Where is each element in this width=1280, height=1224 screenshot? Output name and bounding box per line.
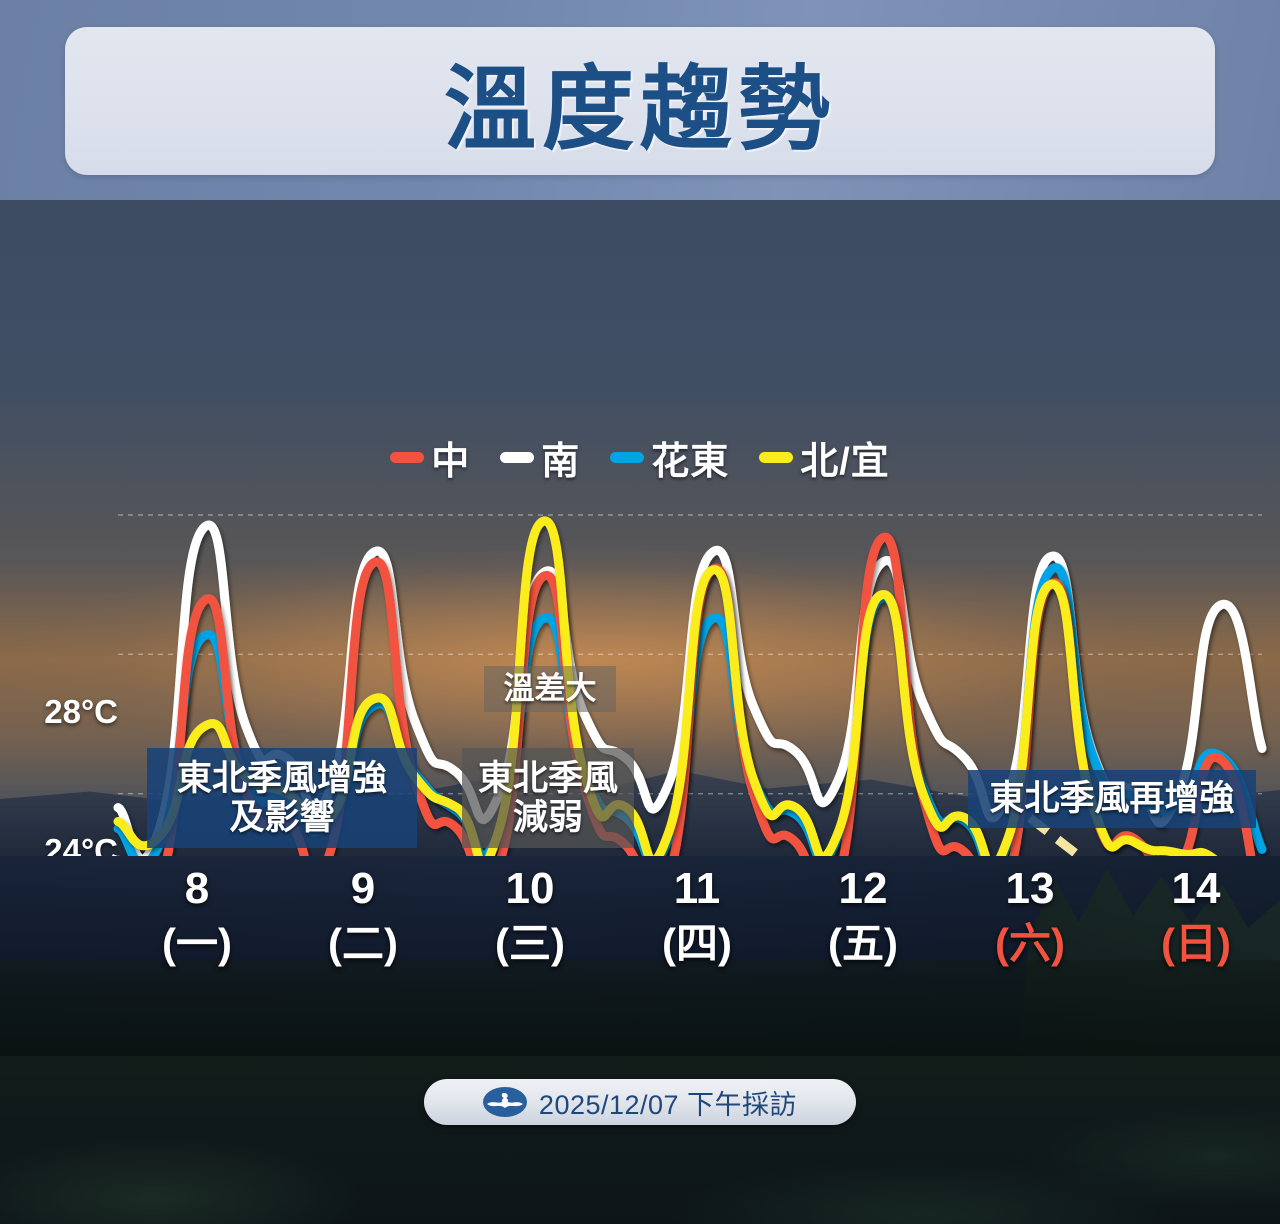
date-column-11: 11(四) (637, 866, 757, 966)
legend-swatch-icon (390, 452, 424, 463)
date-column-13: 13(六) (970, 866, 1090, 966)
legend-label: 南 (541, 430, 580, 485)
y-axis-tick-label: 28°C (44, 693, 118, 731)
legend-item-south[interactable]: 南 (500, 430, 580, 485)
date-weekday: (日) (1136, 922, 1256, 966)
legend-label: 中 (431, 430, 470, 485)
legend-swatch-icon (500, 452, 534, 463)
date-number: 8 (137, 866, 257, 912)
date-weekday: (五) (803, 922, 923, 966)
date-column-10: 10(三) (470, 866, 590, 966)
weather-temperature-trend-infographic: 溫度趨勢 中南花東北/宜 16°C20°C24°C28°C 東北季風增強 及影響… (0, 0, 1280, 1224)
annotation-box-2: 東北季風 減弱 (462, 748, 634, 848)
legend-item-central[interactable]: 中 (390, 430, 470, 485)
annotation-box-1: 東北季風增強 及影響 (147, 748, 417, 848)
date-axis-strip: 8(一)9(二)10(三)11(四)12(五)13(六)14(日) (0, 856, 1280, 1056)
date-number: 13 (970, 866, 1090, 912)
y-axis-tick-label: 24°C (44, 832, 118, 856)
date-number: 10 (470, 866, 590, 912)
legend-label: 北/宜 (800, 430, 890, 485)
legend-swatch-icon (610, 452, 644, 463)
date-column-9: 9(二) (303, 866, 423, 966)
legend-swatch-icon (759, 452, 793, 463)
cwa-logo-icon (483, 1087, 527, 1117)
date-number: 12 (803, 866, 923, 912)
source-badge: 2025/12/07 下午採訪 (424, 1079, 856, 1125)
date-weekday: (四) (637, 922, 757, 966)
chart-legend: 中南花東北/宜 (0, 428, 1280, 486)
page-title: 溫度趨勢 (65, 27, 1215, 175)
source-badge-text: 2025/12/07 下午採訪 (539, 1083, 797, 1122)
date-weekday: (三) (470, 922, 590, 966)
forest-silhouette (0, 960, 1280, 1056)
date-column-12: 12(五) (803, 866, 923, 966)
date-number: 14 (1136, 866, 1256, 912)
annotation-box-3: 溫差大 (484, 666, 616, 712)
date-weekday: (六) (970, 922, 1090, 966)
header: 溫度趨勢 (0, 0, 1280, 200)
date-number: 9 (303, 866, 423, 912)
legend-item-hualien-taitung[interactable]: 花東 (610, 430, 729, 485)
legend-item-north-yilan[interactable]: 北/宜 (759, 430, 890, 485)
date-weekday: (二) (303, 922, 423, 966)
date-weekday: (一) (137, 922, 257, 966)
title-panel: 溫度趨勢 (65, 27, 1215, 175)
legend-label: 花東 (651, 430, 729, 485)
date-column-8: 8(一) (137, 866, 257, 966)
annotation-box-4: 東北季風再增強 (968, 770, 1256, 828)
chart-panel: 中南花東北/宜 16°C20°C24°C28°C 東北季風增強 及影響東北季風 … (0, 200, 1280, 856)
date-number: 11 (637, 866, 757, 912)
date-column-14: 14(日) (1136, 866, 1256, 966)
